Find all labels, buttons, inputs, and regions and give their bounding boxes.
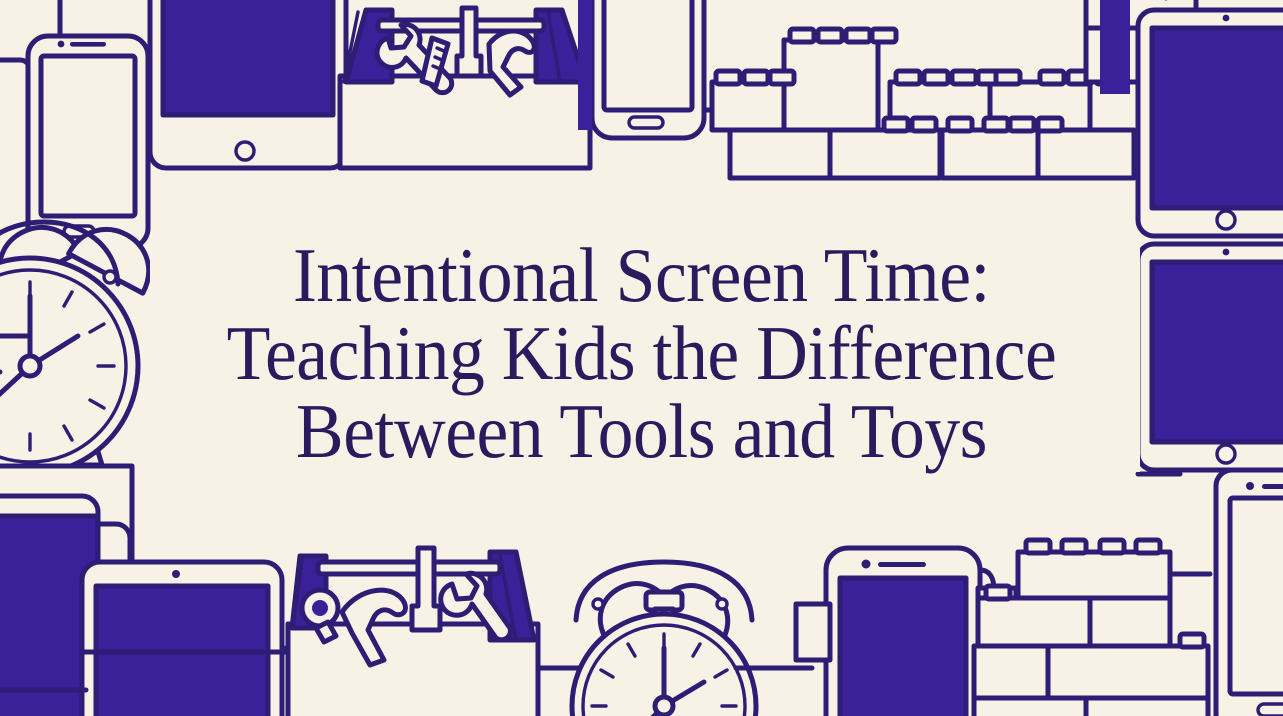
lego-studs — [896, 71, 1002, 84]
tool-screwdriver — [457, 8, 481, 76]
tablet-filled-topleft — [150, 0, 346, 168]
lego-studs — [716, 71, 794, 84]
lego-studs — [884, 118, 1062, 131]
decorative-illustration: .ink { stroke:#2e1d74; fill:none; stroke… — [0, 0, 1283, 716]
smartphone-outline-topcenter — [592, 0, 704, 138]
toolbox-bottom — [288, 548, 538, 716]
smartphone-outline-topleft — [28, 36, 148, 248]
lego-studs — [790, 29, 896, 42]
tool-screwdriver — [412, 548, 440, 630]
toolbox-top — [340, 8, 590, 168]
tablet-filled-bottomleft-b — [82, 562, 282, 716]
lego-studs — [986, 586, 1010, 599]
hero-card: .ink { stroke:#2e1d74; fill:none; stroke… — [0, 0, 1283, 716]
tablet-filled-rightmiddle — [1138, 244, 1283, 470]
smartphone-filled-bottom — [826, 548, 980, 716]
lego-studs — [1180, 634, 1204, 647]
tablet-filled-topright — [1138, 10, 1283, 236]
